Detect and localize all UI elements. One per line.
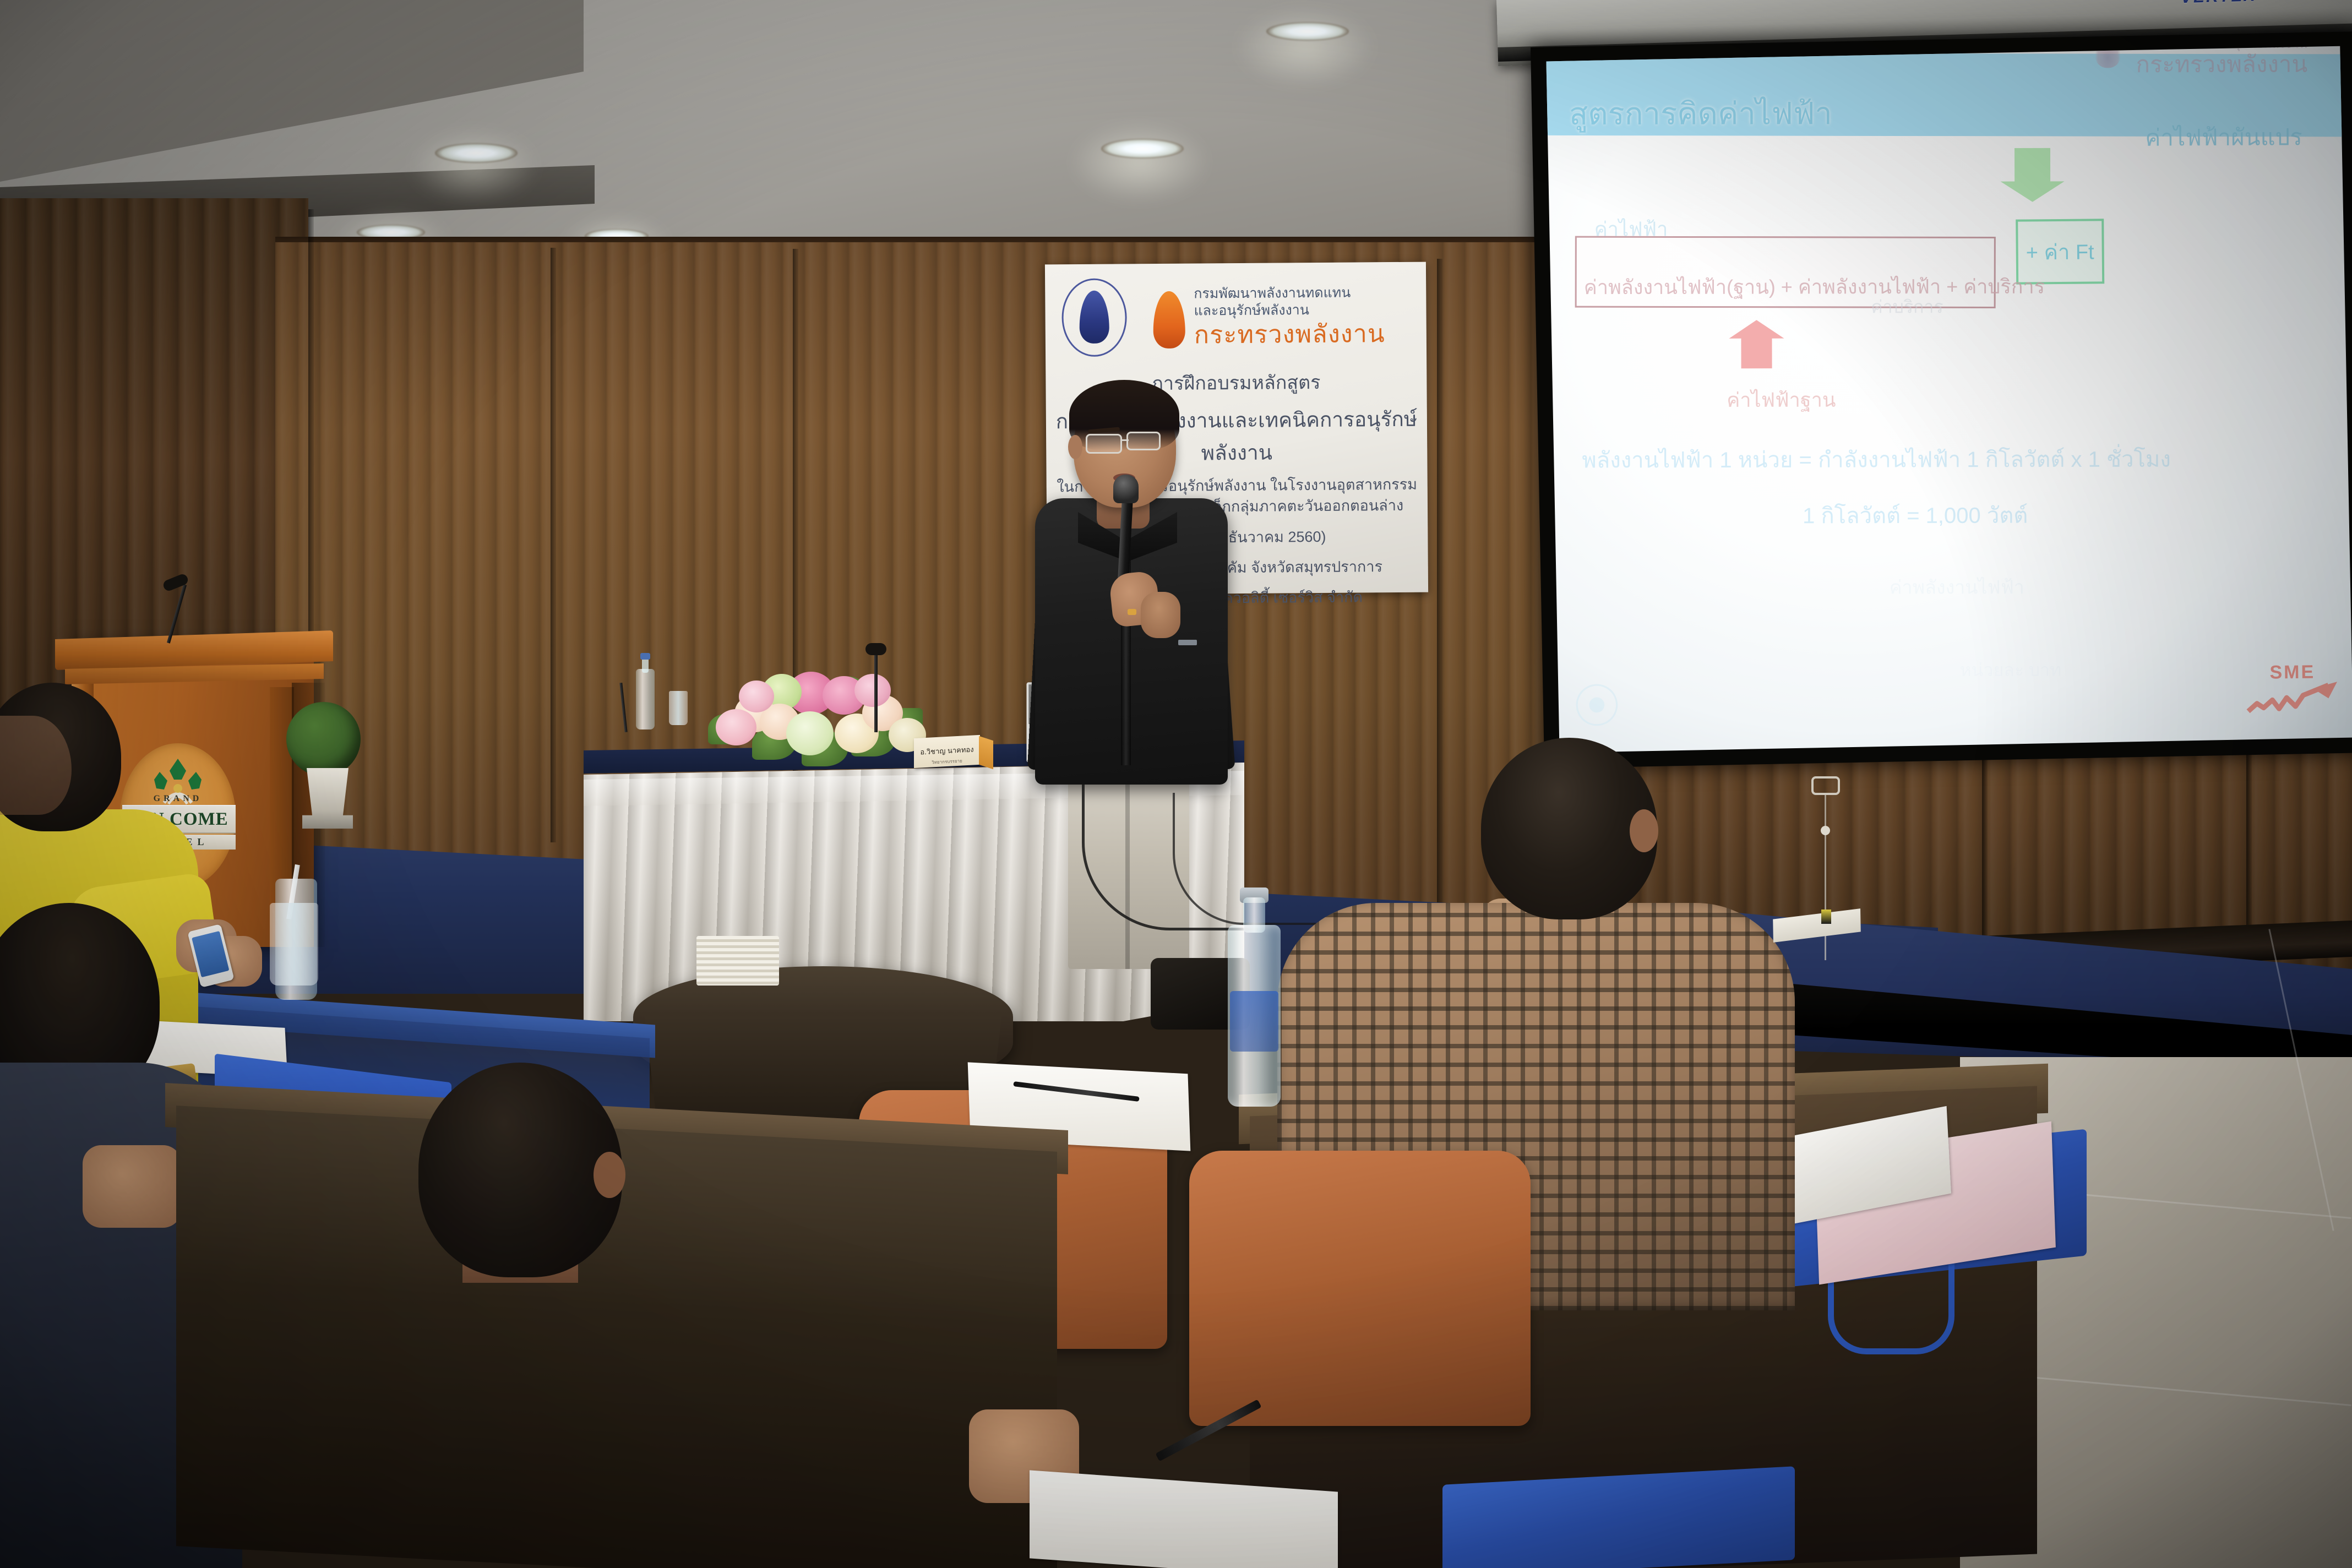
head-table-mic-stand <box>874 650 878 732</box>
paper-basket <box>696 936 779 986</box>
flame-icon-orange <box>1153 291 1185 349</box>
eyeglasses-lens-left <box>1086 434 1122 454</box>
audience-hand-resting <box>83 1145 182 1228</box>
flame-icon <box>2095 46 2120 68</box>
slide-equation-2: 1 กิโลวัตต์ = 1,000 วัตต์ <box>1803 498 2028 533</box>
flower-pink <box>716 709 756 745</box>
topiary-plant <box>286 702 361 776</box>
banner-org-block: กรมพัฒนาพลังงานทดแทน และอนุรักษ์พลังงาน … <box>1194 284 1414 351</box>
name-card-side <box>979 736 993 769</box>
presentation-slide: สูตรการคิดค่าไฟฟ้า กรมพัฒนาพลังงานทดแทน … <box>1546 46 2352 753</box>
downlight-icon <box>1101 139 1184 159</box>
wall-seam <box>1437 259 1442 908</box>
slide-logo-line-2: และอนุรักษ์พลังงาน <box>2136 46 2307 51</box>
slide-ministry-logo: กรมพัฒนาพลังงานทดแทน และอนุรักษ์พลังงาน … <box>2136 46 2307 77</box>
eyeglasses-bridge <box>1121 439 1129 441</box>
vertex-brand-label: VERTEX <box>2180 0 2256 7</box>
slide-equation-3: ค่าพลังงานไฟฟ้า <box>1890 572 2024 602</box>
crest-grand-text: GRAND <box>120 794 236 804</box>
audience-ear-plaid <box>1630 809 1658 852</box>
water-bottle-label <box>1230 991 1278 1052</box>
projection-screen-surface: สูตรการคิดค่าไฟฟ้า กรมพัฒนาพลังงานทดแทน … <box>1546 46 2352 753</box>
flower-arrangement <box>705 661 925 771</box>
flower-pink <box>739 680 774 712</box>
name-card-name: อ.วิชาญ นาคทอง <box>914 743 980 758</box>
banner-org-line-1: กรมพัฒนาพลังงานทดแทน <box>1194 284 1414 302</box>
water-bottle-head-table <box>636 669 655 729</box>
up-arrow-red-icon <box>1729 320 1784 368</box>
microphone-head-icon <box>1113 475 1139 503</box>
sme-logo: SME <box>2245 661 2339 718</box>
slide-logo-line-3: กระทรวงพลังงาน <box>2136 51 2307 77</box>
banner-org-line-2: และอนุรักษ์พลังงาน <box>1194 301 1414 319</box>
slide-title: สูตรการคิดค่าไฟฟ้า <box>1569 89 1832 138</box>
name-card: อ.วิชาญ นาคทอง วิทยากรบรรยาย <box>914 735 980 768</box>
flower-pink <box>854 674 891 707</box>
growth-arrow-icon <box>2246 680 2340 716</box>
slide-base-cost-label: ค่าไฟฟ้าฐาน <box>1727 384 1836 415</box>
slide-formula-text: ค่าพลังงานไฟฟ้า(ฐาน) + ค่าพลังงานไฟฟ้า +… <box>1583 271 2044 303</box>
slide-variable-cost-label: ค่าไฟฟ้าผันแปร <box>2145 119 2302 156</box>
downlight-glow <box>1068 121 1211 204</box>
tote-bag-foreground[interactable] <box>1442 1466 1795 1568</box>
screen-pull-hook-icon[interactable] <box>1811 776 1840 795</box>
chair-right-of-center[interactable] <box>1189 1151 1531 1426</box>
smartphone-screen <box>192 931 229 977</box>
drinking-glass-left <box>270 903 318 986</box>
wall-clip-icon <box>1821 910 1831 924</box>
screen-pull-bob[interactable] <box>1821 826 1830 835</box>
speaker-ear <box>1068 435 1082 459</box>
slide-equation-4: หน่วยละ บาท <box>1959 656 2061 684</box>
downlight-icon <box>435 143 518 163</box>
down-arrow-green-icon <box>2001 148 2065 202</box>
wall-seam <box>551 248 556 842</box>
speaker-hand-right <box>1141 592 1180 638</box>
audience-ear-blue <box>594 1152 625 1198</box>
water-bottle-cap <box>640 653 650 660</box>
slide-service-label: ค่าบริการ <box>1871 293 1943 321</box>
downlight-glow <box>1233 6 1376 88</box>
seminar-room-photo: VERTEX สูตรการคิดค่าไฟฟ้า กรมพัฒนาพลังงา… <box>0 0 2352 1568</box>
slide-equation-1: พลังงานไฟฟ้า 1 หน่วย = กำลังงานไฟฟ้า 1 ก… <box>1582 441 2171 477</box>
audience-head-blue-shirt <box>418 1063 622 1277</box>
flower-white <box>786 711 834 755</box>
downlight-icon <box>1266 22 1349 41</box>
speaker-pocket-badge <box>1178 640 1197 645</box>
head-table-mic-head-icon <box>865 643 886 655</box>
slide-watermark-icon: ⦿ <box>1572 669 1621 737</box>
projection-screen-frame: สูตรการคิดค่าไฟฟ้า กรมพัฒนาพลังงานทดแทน … <box>1531 31 2352 768</box>
banner-ministry: กระทรวงพลังงาน <box>1194 319 1414 351</box>
wedding-ring <box>1128 609 1136 615</box>
eyeglasses-lens-right <box>1126 432 1161 450</box>
downlight-glow <box>407 127 540 204</box>
drinking-glass-head-table <box>669 691 688 725</box>
